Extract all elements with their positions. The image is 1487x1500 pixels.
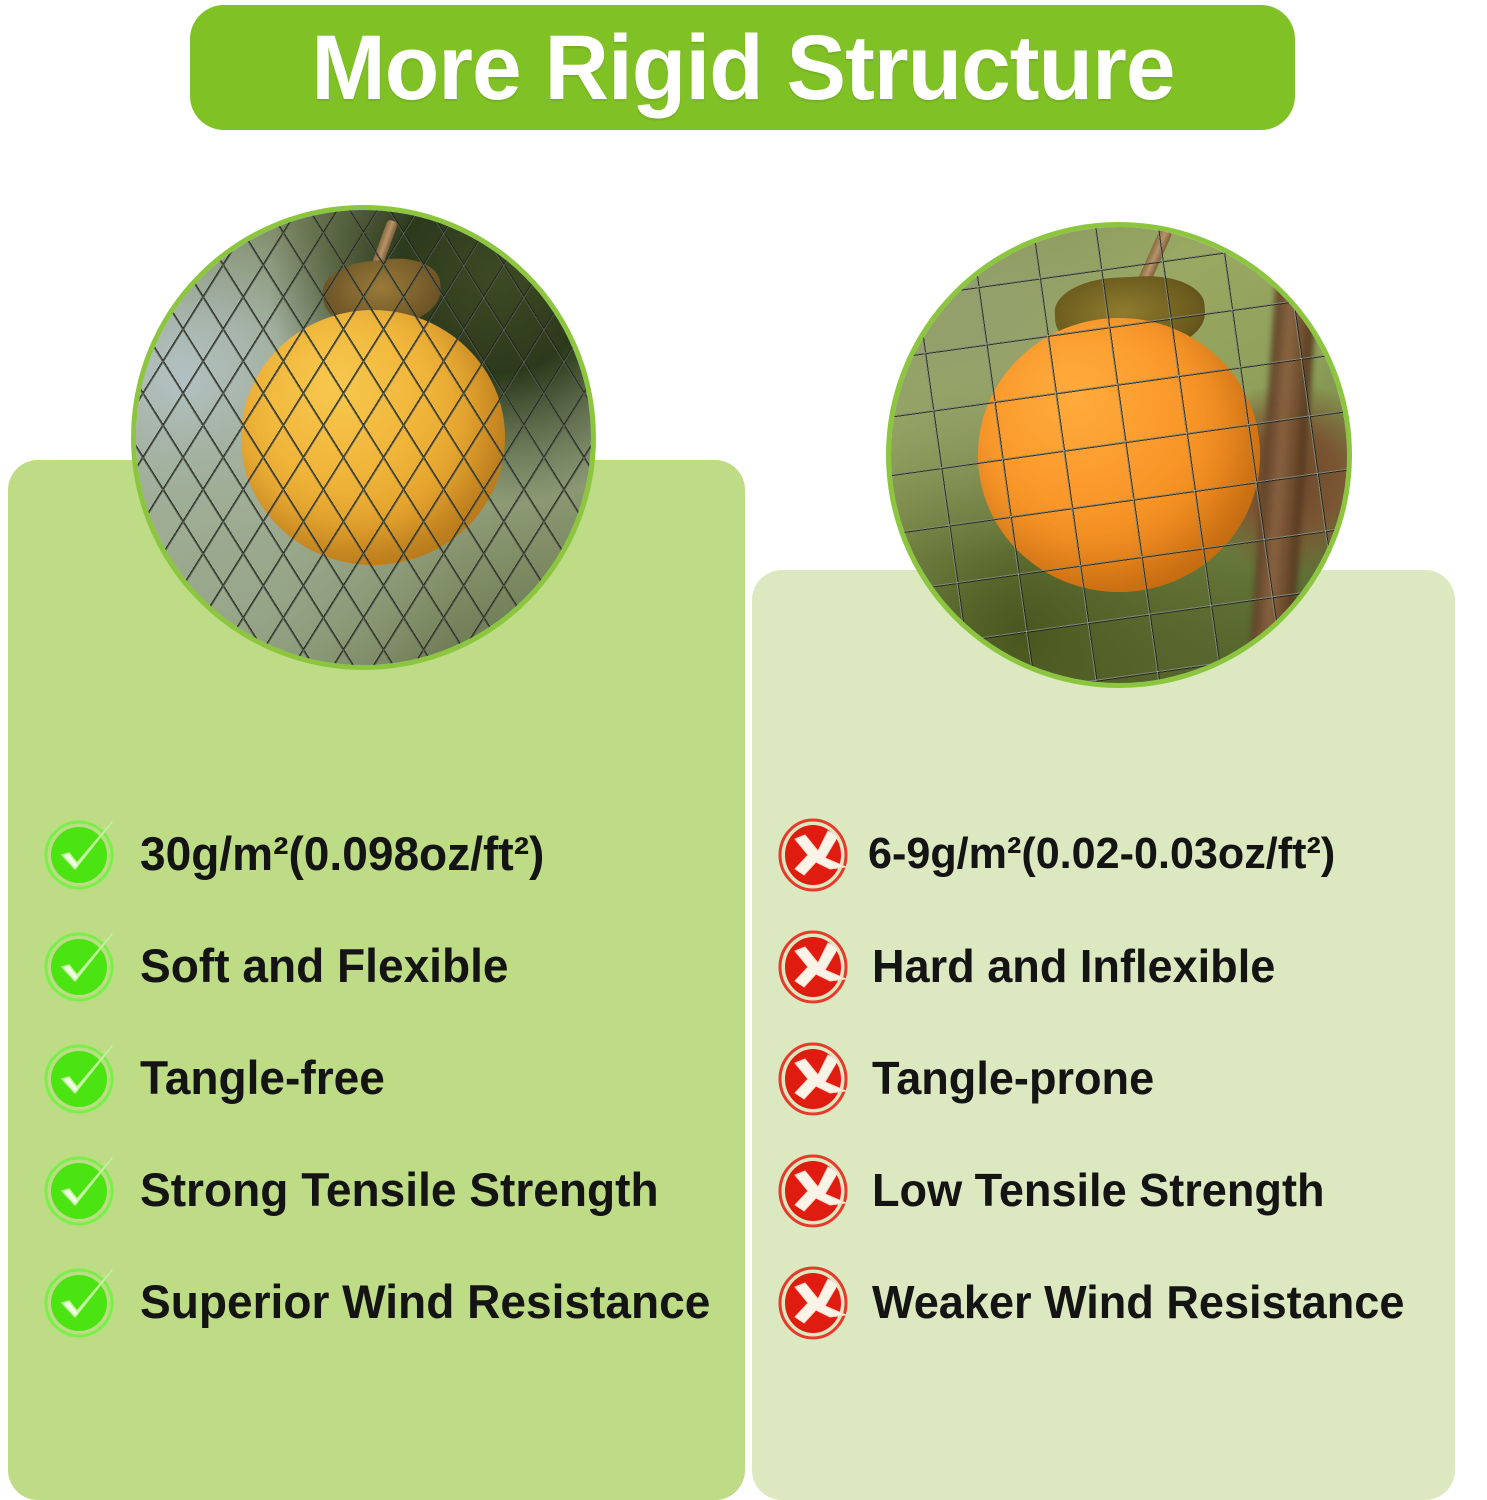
list-item: Weaker Wind Resistance (778, 1246, 1478, 1358)
list-item: 6-9g/m²(0.02-0.03oz/ft²) (778, 798, 1478, 910)
photo-other-netting (886, 222, 1352, 688)
list-item-label: Superior Wind Resistance (140, 1276, 710, 1328)
list-item-label: Hard and Inflexible (872, 940, 1275, 992)
list-item: Tangle-free (44, 1022, 744, 1134)
check-icon (44, 1041, 118, 1115)
feature-list-our-product: 30g/m²(0.098oz/ft²) Soft and Flexible Ta… (44, 798, 744, 1358)
check-icon (44, 1153, 118, 1227)
coarse-mesh-netting-highlight (891, 227, 1347, 683)
cross-icon (778, 1265, 852, 1339)
list-item-label: Strong Tensile Strength (140, 1164, 659, 1216)
check-icon (44, 929, 118, 1003)
list-item-label: Low Tensile Strength (872, 1164, 1324, 1216)
page-title-banner: More Rigid Structure (190, 5, 1295, 130)
list-item: Low Tensile Strength (778, 1134, 1478, 1246)
cross-icon (778, 1153, 852, 1227)
feature-list-other-product: 6-9g/m²(0.02-0.03oz/ft²) Hard and Inflex… (778, 798, 1478, 1358)
list-item-label: Soft and Flexible (140, 940, 509, 992)
list-item: 30g/m²(0.098oz/ft²) (44, 798, 744, 910)
photo-our-netting-content (136, 210, 591, 665)
list-item-label: Tangle-prone (872, 1052, 1154, 1104)
list-item: Strong Tensile Strength (44, 1134, 744, 1246)
list-item: Hard and Inflexible (778, 910, 1478, 1022)
check-icon (44, 817, 118, 891)
cross-icon (778, 817, 852, 891)
check-icon (44, 1265, 118, 1339)
page-title: More Rigid Structure (311, 22, 1174, 114)
cross-icon (778, 929, 852, 1003)
list-item-label: 6-9g/m²(0.02-0.03oz/ft²) (868, 828, 1335, 880)
list-item: Soft and Flexible (44, 910, 744, 1022)
list-item-label: 30g/m²(0.098oz/ft²) (140, 828, 544, 880)
list-item-label: Tangle-free (140, 1052, 385, 1104)
photo-other-netting-content (891, 227, 1347, 683)
list-item-label: Weaker Wind Resistance (872, 1276, 1404, 1328)
fine-mesh-netting-highlight (136, 210, 591, 665)
list-item: Superior Wind Resistance (44, 1246, 744, 1358)
cross-icon (778, 1041, 852, 1115)
list-item: Tangle-prone (778, 1022, 1478, 1134)
photo-our-netting (131, 205, 596, 670)
